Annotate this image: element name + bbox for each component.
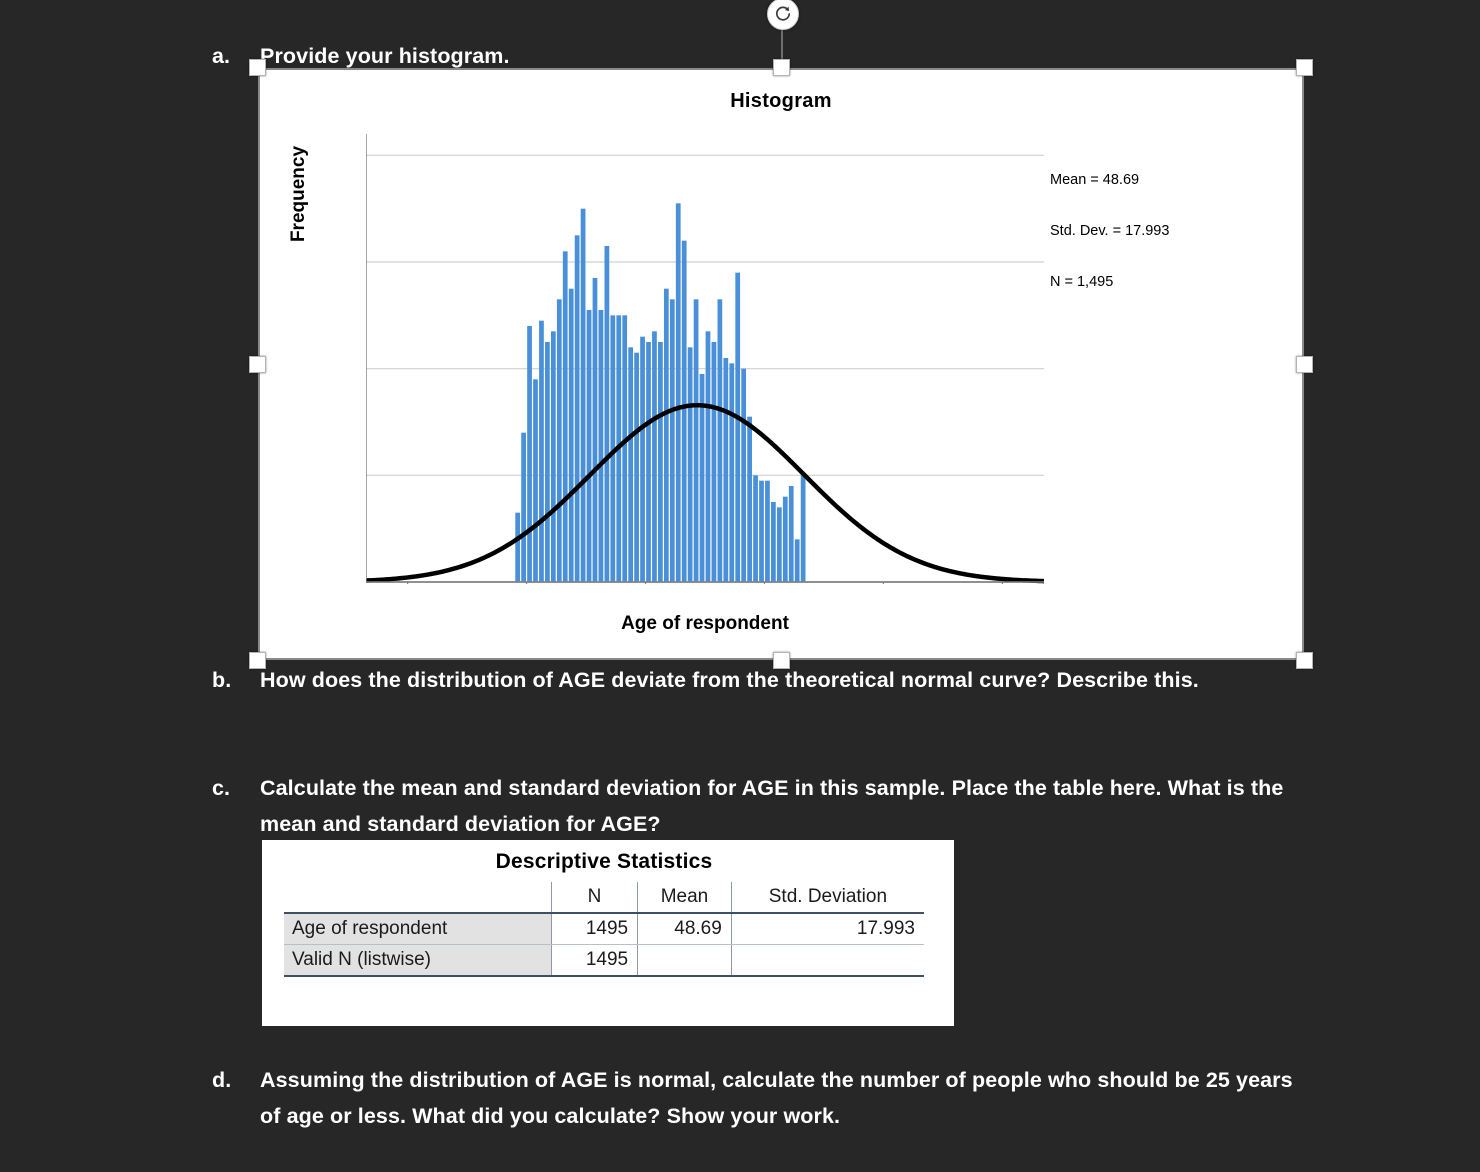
histogram-bar [646, 342, 651, 582]
normal-curve-line [366, 405, 1044, 581]
histogram-bar [717, 299, 722, 582]
histogram-svg: 020406080 020406080100 [366, 134, 1044, 584]
histogram-bar [569, 289, 574, 582]
histogram-bar [634, 353, 639, 582]
histogram-bar [628, 347, 633, 582]
stats-row-0-n: 1495 [551, 913, 637, 945]
histogram-bar [676, 203, 681, 582]
doc-item-c: c. Calculate the mean and standard devia… [212, 770, 1302, 842]
histogram-bar [587, 310, 592, 582]
histogram-bar [706, 331, 711, 582]
doc-item-d-marker: d. [212, 1062, 260, 1134]
histogram-bar [545, 342, 550, 582]
stats-table-col-sd: Std. Deviation [731, 882, 924, 913]
stats-row-1-n: 1495 [551, 945, 637, 977]
histogram-bar [640, 337, 645, 582]
stats-row-1-label: Valid N (listwise) [284, 945, 551, 977]
histogram-bar [527, 326, 532, 582]
histogram-bar [521, 433, 526, 582]
chart-gridlines [366, 155, 1044, 582]
histogram-bar [795, 539, 800, 582]
chart-plot-area: 020406080 020406080100 [366, 134, 1044, 584]
annotation-mean: Mean = 48.69 [1050, 172, 1169, 189]
histogram-bar [551, 331, 556, 582]
stats-table-header-row: N Mean Std. Deviation [284, 882, 924, 913]
histogram-bar [581, 209, 586, 582]
histogram-bar [622, 315, 627, 582]
stats-table-col-corner [284, 882, 551, 913]
histogram-bar [652, 331, 657, 582]
stats-table: N Mean Std. Deviation Age of respondent … [284, 882, 924, 977]
histogram-bar [682, 241, 687, 582]
histogram-bar [729, 363, 734, 582]
histogram-white-canvas: Histogram 020406080 020406080100 Frequen… [258, 68, 1304, 660]
chart-bars [515, 203, 805, 582]
selection-handle-bottom-center[interactable] [773, 652, 790, 669]
stats-table-caption: Descriptive Statistics [284, 846, 924, 882]
histogram-bar [789, 486, 794, 582]
histogram-bar [801, 475, 806, 582]
table-row: Age of respondent 1495 48.69 17.993 [284, 913, 924, 945]
stats-row-0-label: Age of respondent [284, 913, 551, 945]
histogram-bar [599, 310, 604, 582]
histogram-bar [771, 502, 776, 582]
histogram-bar [694, 299, 699, 582]
chart-stats-annotation: Mean = 48.69 Std. Dev. = 17.993 N = 1,49… [1050, 138, 1169, 325]
histogram-bar [723, 358, 728, 582]
doc-item-d-text: Assuming the distribution of AGE is norm… [260, 1062, 1302, 1134]
stats-table-col-mean: Mean [638, 882, 732, 913]
annotation-std: Std. Dev. = 17.993 [1050, 223, 1169, 240]
doc-item-d: d. Assuming the distribution of AGE is n… [212, 1062, 1302, 1134]
selection-handle-middle-left[interactable] [249, 356, 266, 373]
histogram-bar [783, 497, 788, 582]
histogram-bar [593, 278, 598, 582]
selection-handle-top-center[interactable] [773, 59, 790, 76]
stats-row-1-mean [638, 945, 732, 977]
histogram-image-object[interactable]: Histogram 020406080 020406080100 Frequen… [258, 68, 1304, 660]
selection-handle-top-left[interactable] [249, 59, 266, 76]
histogram-bar [759, 481, 764, 582]
selection-handle-bottom-left[interactable] [249, 652, 266, 669]
stats-row-0-sd: 17.993 [731, 913, 924, 945]
histogram-bar [515, 513, 520, 582]
histogram-bar [712, 342, 717, 582]
descriptive-statistics-table-object[interactable]: Descriptive Statistics N Mean Std. Devia… [262, 840, 954, 1026]
histogram-bar [664, 289, 669, 582]
doc-item-c-marker: c. [212, 770, 260, 842]
rotate-icon[interactable] [767, 0, 799, 30]
selection-handle-top-right[interactable] [1296, 59, 1313, 76]
histogram-bar [753, 475, 758, 582]
histogram-bar [741, 369, 746, 582]
histogram-bar [670, 299, 675, 582]
table-row: Valid N (listwise) 1495 [284, 945, 924, 977]
x-axis-title: Age of respondent [366, 613, 1044, 635]
histogram-bar [539, 321, 544, 582]
histogram-bar [747, 417, 752, 582]
stats-row-1-sd [731, 945, 924, 977]
stats-table-col-n: N [551, 882, 637, 913]
annotation-n: N = 1,495 [1050, 274, 1169, 291]
doc-item-b: b. How does the distribution of AGE devi… [212, 662, 1297, 698]
histogram-bar [777, 507, 782, 582]
selection-handle-middle-right[interactable] [1296, 356, 1313, 373]
histogram-bar [688, 347, 693, 582]
histogram-bar [557, 299, 562, 582]
histogram-bar [533, 379, 538, 582]
chart-title: Histogram [260, 90, 1302, 113]
histogram-bar [575, 235, 580, 582]
histogram-bar [563, 251, 568, 582]
y-axis-title: Frequency [288, 104, 310, 284]
histogram-bar [604, 246, 609, 582]
stats-row-0-mean: 48.69 [638, 913, 732, 945]
histogram-bar [735, 273, 740, 582]
histogram-bar [658, 342, 663, 582]
selection-handle-bottom-right[interactable] [1296, 652, 1313, 669]
histogram-bar [765, 481, 770, 582]
doc-item-c-text: Calculate the mean and standard deviatio… [260, 770, 1302, 842]
